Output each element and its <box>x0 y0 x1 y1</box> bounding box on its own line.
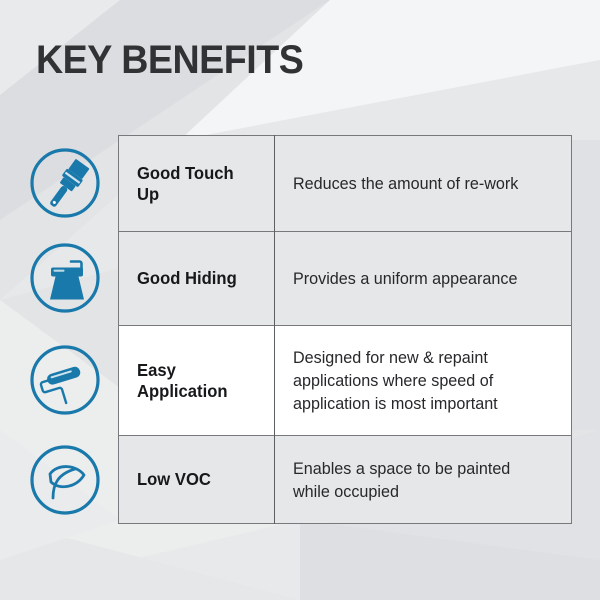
benefit-description-cell: Reduces the amount of re-work <box>275 136 572 232</box>
benefit-icon-2 <box>18 231 112 325</box>
benefit-description: Designed for new & repaint applications … <box>293 346 535 415</box>
benefits-table: Good Touch Up Reduces the amount of re-w… <box>118 135 572 524</box>
benefit-icon-4 <box>18 435 112 525</box>
benefit-description-cell: Enables a space to be painted while occu… <box>275 436 572 524</box>
benefit-term-cell: Low VOC <box>119 436 275 524</box>
table-row: Easy Application Designed for new & repa… <box>119 326 572 436</box>
benefit-icon-column <box>18 135 112 525</box>
benefit-term: Easy Application <box>137 360 242 402</box>
benefit-description: Reduces the amount of re-work <box>293 172 544 195</box>
benefit-term-cell: Good Touch Up <box>119 136 275 232</box>
benefit-icon-1 <box>18 135 112 231</box>
page-title: KEY BENEFITS <box>36 38 303 82</box>
paint-brush-icon <box>25 143 105 223</box>
benefit-term-cell: Easy Application <box>119 326 275 436</box>
benefit-icon-3 <box>18 325 112 435</box>
benefit-term: Good Hiding <box>137 268 254 289</box>
table-row: Good Touch Up Reduces the amount of re-w… <box>119 136 572 232</box>
paint-roller-icon <box>25 340 105 420</box>
paint-roller-coverage-icon <box>25 238 105 318</box>
benefit-term-cell: Good Hiding <box>119 232 275 326</box>
table-row: Good Hiding Provides a uniform appearanc… <box>119 232 572 326</box>
benefit-description: Enables a space to be painted while occu… <box>293 457 531 503</box>
table-row: Low VOC Enables a space to be painted wh… <box>119 436 572 524</box>
benefit-term: Low VOC <box>137 469 254 490</box>
benefit-term: Good Touch Up <box>137 163 254 205</box>
infographic-canvas: KEY BENEFITS <box>0 0 600 600</box>
benefit-description-cell: Provides a uniform appearance <box>275 232 572 326</box>
leaf-icon <box>25 440 105 520</box>
benefit-description: Provides a uniform appearance <box>293 267 544 290</box>
benefit-description-cell: Designed for new & repaint applications … <box>275 326 572 436</box>
